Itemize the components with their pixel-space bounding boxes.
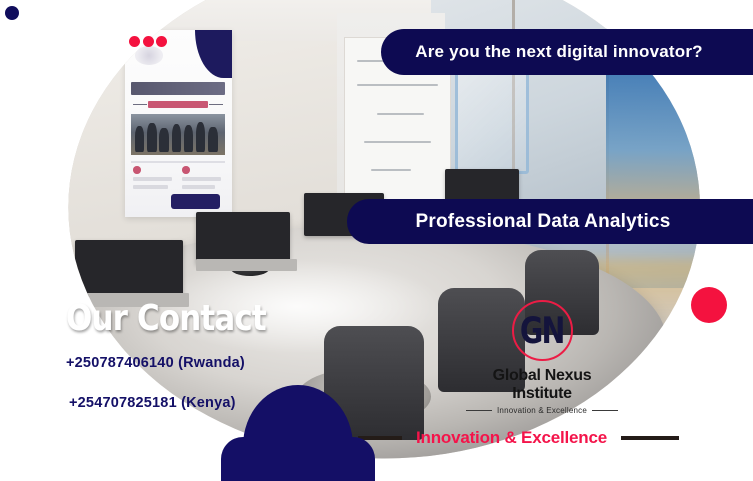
rollup-cta-button [171, 194, 220, 209]
laptop [196, 212, 290, 264]
poster-canvas: Are you the next digital innovator? Prof… [0, 0, 753, 468]
logo-initials: GN [520, 309, 564, 351]
rollup-text-line [133, 177, 171, 181]
laptop [75, 240, 183, 297]
rollup-person [147, 123, 156, 152]
rollup-person [172, 124, 181, 152]
rollup-banner [125, 30, 232, 217]
rollup-group-photo [131, 114, 225, 155]
laptop-base [196, 259, 297, 271]
rollup-person [208, 127, 217, 152]
red-dot-icon [156, 36, 167, 47]
rollup-person [196, 122, 205, 152]
rollup-logo [135, 46, 163, 65]
red-dot-icon [129, 36, 140, 47]
gn-monogram-icon: GN [512, 300, 573, 361]
whiteboard-scribble [377, 113, 424, 115]
rollup-subtitle-bar [148, 101, 208, 108]
red-dot-icon [143, 36, 154, 47]
tagline-rule-left [466, 410, 492, 411]
whiteboard-scribble [364, 141, 431, 143]
tagline-rule-right [592, 410, 618, 411]
footer-tagline-strip: Innovation & Excellence [358, 427, 738, 449]
brand-logo-lockup: GN Global Nexus Institute Innovation & E… [462, 300, 622, 415]
rollup-corner-accent [195, 30, 231, 79]
phone-number-kenya[interactable]: +254707825181 (Kenya) [69, 395, 236, 411]
rollup-text-line [133, 185, 167, 189]
logo-tagline: Innovation & Excellence [497, 406, 587, 415]
rollup-rule [209, 104, 223, 105]
dash-right [621, 436, 679, 440]
phone-number-rwanda[interactable]: +250787406140 (Rwanda) [66, 355, 245, 371]
rollup-title-bar [131, 82, 225, 95]
red-dot-icon [691, 287, 727, 323]
photo-blue-frame [455, 60, 529, 174]
whiteboard-scribble [357, 84, 438, 86]
rollup-person [135, 126, 144, 152]
headline-banner-primary: Are you the next digital innovator? [381, 29, 753, 75]
contact-heading: Our Contact [66, 298, 266, 339]
photo-window-view [606, 70, 700, 203]
rollup-divider [131, 161, 225, 164]
rollup-rule [133, 104, 147, 105]
navy-dot-icon [5, 6, 19, 20]
rollup-person [159, 128, 168, 152]
rollup-text-line [182, 177, 220, 181]
rollup-icon [182, 166, 189, 173]
footer-tagline: Innovation & Excellence [416, 428, 607, 448]
logo-brand-name: Global Nexus Institute [462, 367, 622, 403]
rollup-icon [133, 166, 140, 173]
headline-banner-secondary: Professional Data Analytics [347, 199, 753, 244]
logo-tagline-row: Innovation & Excellence [462, 406, 622, 415]
rollup-text-line [182, 185, 214, 189]
rollup-person [184, 125, 193, 151]
